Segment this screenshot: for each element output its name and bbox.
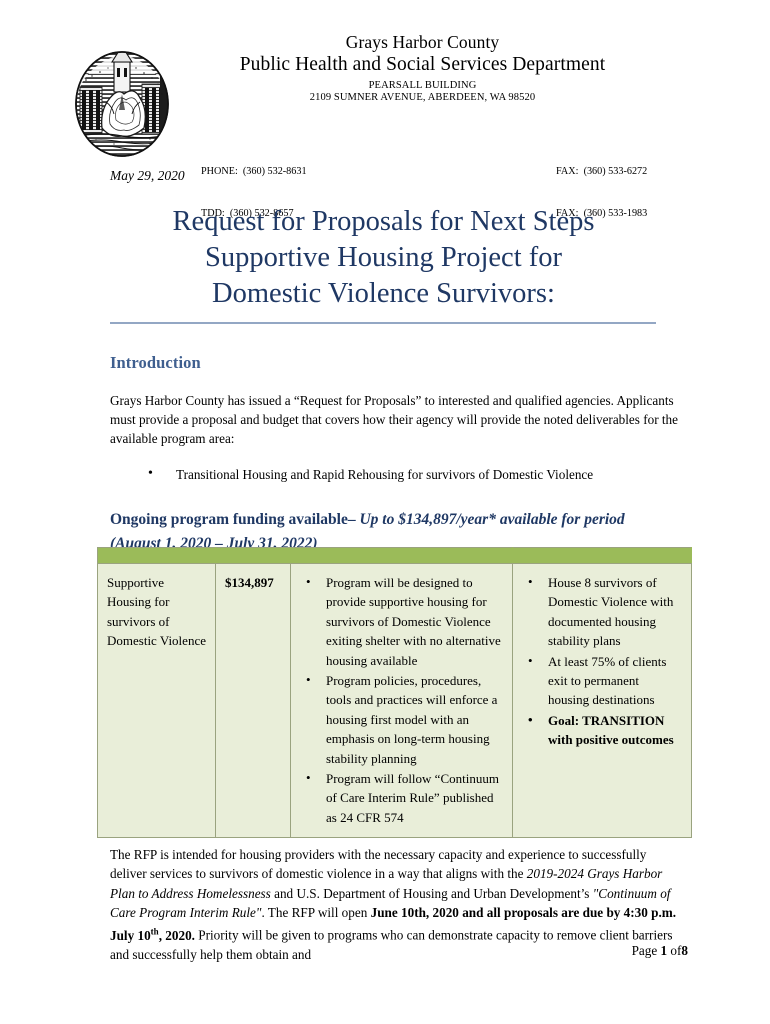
fax1-line: FAX: (360) 533-6272: [556, 165, 647, 179]
outcomes-list: House 8 survivors of Domestic Violence w…: [522, 573, 683, 750]
document-date: May 29, 2020: [110, 168, 185, 184]
cell-outcomes: House 8 survivors of Domestic Violence w…: [513, 564, 692, 838]
closing-seg-3: and U.S. Department of Housing and Urban…: [271, 886, 593, 901]
footer-prefix: Page: [632, 943, 661, 958]
cell-amount: $134,897: [216, 564, 291, 838]
letterhead: Grays Harbor County Public Health and So…: [0, 0, 770, 152]
funding-table: Supportive Housing for survivors of Dome…: [97, 547, 692, 838]
list-item: Program policies, procedures, tools and …: [300, 671, 504, 768]
table-header-strip: [98, 548, 692, 564]
list-item: House 8 survivors of Domestic Violence w…: [522, 573, 683, 651]
deadline-year: , 2020.: [159, 928, 195, 943]
funding-heading-plain: Ongoing program funding available–: [110, 511, 359, 528]
footer-total-pages: 8: [681, 943, 688, 958]
program-area-list: Transitional Housing and Rapid Rehousing…: [110, 465, 685, 484]
cell-program-name: Supportive Housing for survivors of Dome…: [98, 564, 216, 838]
ordinal-suffix: th: [151, 926, 159, 936]
title-divider: [110, 322, 656, 324]
header-cell-requirements: [291, 548, 513, 564]
org-name: Grays Harbor County: [95, 32, 750, 53]
closing-seg-5: . The RFP will open: [261, 905, 370, 920]
list-item: Transitional Housing and Rapid Rehousing…: [148, 465, 685, 484]
street-address: 2109 SUMNER AVENUE, ABERDEEN, WA 98520: [95, 92, 750, 103]
introduction-section: Introduction Grays Harbor County has iss…: [110, 353, 685, 556]
list-item: Program will follow “Continuum of Care I…: [300, 769, 504, 827]
building-name: PEARSALL BUILDING: [95, 80, 750, 91]
fax1-value: (360) 533-6272: [584, 166, 648, 177]
footer-middle: of: [667, 943, 681, 958]
header-cell-outcomes: [513, 548, 692, 564]
introduction-paragraph: Grays Harbor County has issued a “Reques…: [110, 391, 685, 449]
header-cell-program: [98, 548, 216, 564]
phone-label: PHONE:: [201, 165, 238, 179]
title-line-3: Domestic Violence Survivors:: [110, 276, 657, 312]
cell-requirements: Program will be designed to provide supp…: [291, 564, 513, 838]
list-item: Goal: TRANSITION with positive outcomes: [522, 711, 683, 750]
document-page: Grays Harbor County Public Health and So…: [0, 0, 770, 1024]
title-block: Request for Proposals for Next Steps Sup…: [110, 204, 657, 324]
page-footer: Page 1 of8: [0, 943, 688, 959]
header-cell-amount: [216, 548, 291, 564]
department-name: Public Health and Social Services Depart…: [95, 54, 750, 76]
phone-line: PHONE: (360) 532-8631: [201, 165, 307, 179]
funding-table-wrapper: Supportive Housing for survivors of Dome…: [97, 547, 687, 838]
phone-value: (360) 532-8631: [243, 166, 307, 177]
list-item: Program will be designed to provide supp…: [300, 573, 504, 670]
fax1-label: FAX:: [556, 165, 578, 179]
page-title: Request for Proposals for Next Steps Sup…: [110, 204, 657, 312]
county-seal-icon: [62, 32, 182, 164]
list-item: At least 75% of clients exit to permanen…: [522, 652, 683, 710]
introduction-heading: Introduction: [110, 353, 685, 373]
table-row: Supportive Housing for survivors of Dome…: [98, 564, 692, 838]
requirements-list: Program will be designed to provide supp…: [300, 573, 504, 827]
title-line-2: Supportive Housing Project for: [110, 240, 657, 276]
title-line-1: Request for Proposals for Next Steps: [110, 204, 657, 240]
